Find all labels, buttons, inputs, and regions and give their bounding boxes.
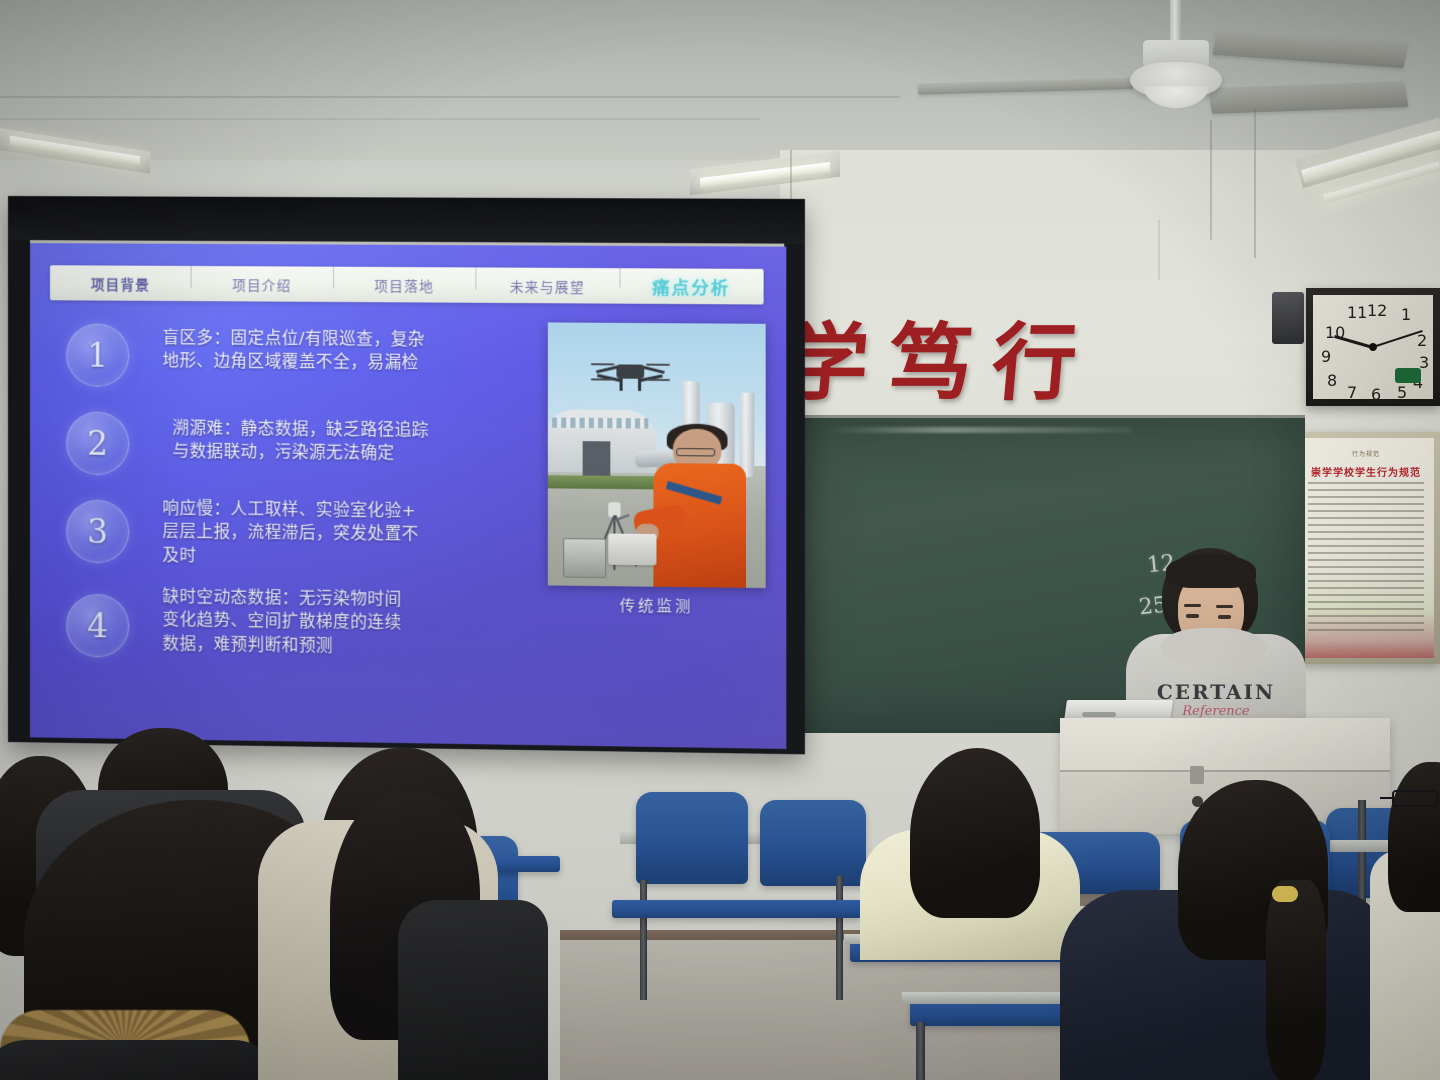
screen-top-bar	[8, 196, 805, 244]
desk-leg	[836, 876, 843, 1000]
photo-equipment-case	[563, 538, 606, 578]
slide-tab-project-implementation[interactable]: 项目落地	[333, 274, 476, 295]
classroom-scene: 学笃行 12 1 2 3 4 5 6 7 8 9 10 11 行为规范 崇学学校…	[0, 0, 1440, 1080]
bullet-item: 1 盲区多：固定点位/有限巡查，复杂 地形、边角区域覆盖不全，易漏检	[44, 321, 529, 403]
classroom-chair	[760, 800, 866, 886]
ceiling-seam	[0, 96, 900, 98]
student-coat	[398, 900, 548, 1080]
presenter-fringe	[1166, 554, 1256, 588]
presenter-brow	[1216, 605, 1233, 608]
photo-drone-monitoring	[548, 322, 766, 588]
wall-edge	[1210, 120, 1212, 240]
poster-heading: 崇学学校学生行为规范	[1298, 464, 1434, 479]
bullet-item: 4 缺时空动态数据：无污染物时间 变化趋势、空间扩散梯度的连续 数据，难预判断和…	[44, 579, 529, 664]
podium-seam	[1060, 770, 1390, 772]
presenter-brow	[1184, 604, 1201, 607]
presenter-eye	[1218, 615, 1231, 619]
slide-tab-project-background[interactable]: 项目背景	[50, 273, 191, 294]
bullet-number-3: 3	[66, 500, 129, 564]
projection-screen: 项目背景 项目介绍 项目落地 未来与展望 痛点分析 1 盲区多：固定点位/有限巡…	[8, 196, 805, 754]
desk-leg	[916, 1022, 925, 1080]
bullet-number-1: 1	[66, 323, 129, 387]
poster-subheading: 行为规范	[1298, 449, 1434, 458]
photo-remote-controller	[609, 534, 657, 566]
slide-photo-caption: 传统监测	[548, 594, 766, 618]
classroom-desk	[612, 900, 862, 918]
slide-tab-project-intro[interactable]: 项目介绍	[191, 273, 333, 294]
ceiling-seam	[0, 118, 760, 120]
bullet-text-2: 溯源难：静态数据，缺乏路径追踪 与数据联动，污染源无法确定	[162, 408, 529, 466]
slide-photo	[548, 322, 766, 588]
clock-face: 12 1 2 3 4 5 6 7 8 9 10 11	[1313, 295, 1433, 399]
student-coat	[0, 1040, 280, 1080]
wall-edge	[1158, 220, 1160, 280]
wall-calligraphy: 学笃行	[780, 296, 1103, 417]
classroom-chair	[636, 792, 748, 884]
bullet-number-4: 4	[66, 594, 129, 658]
fan-rod	[1170, 0, 1181, 44]
photo-building-door	[583, 441, 611, 478]
ceiling	[0, 0, 1440, 160]
wall-edge	[1254, 108, 1256, 258]
hair-tie	[1272, 886, 1298, 902]
slide-tab-pain-point-analysis[interactable]: 痛点分析	[619, 273, 763, 299]
bullet-text-3: 响应慢：人工取样、实验室化验+ 层层上报，流程滞后，突发处置不 及时	[162, 495, 529, 572]
photo-worker-glasses	[676, 448, 715, 456]
slide-nav-bar: 项目背景 项目介绍 项目落地 未来与展望 痛点分析	[50, 265, 764, 304]
slide-tab-future-outlook[interactable]: 未来与展望	[476, 275, 620, 296]
photo-drone	[591, 352, 669, 395]
bullet-item: 2 溯源难：静态数据，缺乏路径追踪 与数据联动，污染源无法确定	[44, 407, 529, 490]
poster-body-text	[1308, 482, 1425, 632]
clock-badge	[1395, 368, 1421, 383]
student-glasses	[1392, 790, 1438, 807]
wall-clock: 12 1 2 3 4 5 6 7 8 9 10 11	[1306, 288, 1440, 406]
desk-leg	[640, 880, 647, 1000]
wall-poster: 行为规范 崇学学校学生行为规范	[1292, 432, 1440, 664]
bullet-item: 3 响应慢：人工取样、实验室化验+ 层层上报，流程滞后，突发处置不 及时	[44, 493, 529, 577]
photo-building-windows	[552, 417, 648, 428]
photo-drone-body	[616, 364, 644, 379]
laptop-hinge	[1082, 712, 1116, 717]
podium-lock[interactable]	[1190, 766, 1204, 784]
clock-minute-hand	[1373, 330, 1423, 348]
bullet-text-4: 缺时空动态数据：无污染物时间 变化趋势、空间扩散梯度的连续 数据，难预判断和预测	[162, 581, 529, 660]
poster-content: 行为规范 崇学学校学生行为规范	[1298, 438, 1434, 658]
bullet-number-2: 2	[66, 411, 129, 475]
presenter-hood	[1160, 628, 1266, 668]
slide-bullet-list: 1 盲区多：固定点位/有限巡查，复杂 地形、边角区域覆盖不全，易漏检 2 溯源难…	[44, 321, 529, 672]
photo-worker	[643, 428, 765, 588]
student-hair	[910, 748, 1040, 918]
presentation-slide: 项目背景 项目介绍 项目落地 未来与展望 痛点分析 1 盲区多：固定点位/有限巡…	[30, 243, 786, 749]
bullet-text-1: 盲区多：固定点位/有限巡查，复杂 地形、边角区域覆盖不全，易漏检	[162, 322, 529, 376]
chalk-dust	[826, 427, 1132, 433]
student-ponytail	[1266, 880, 1326, 1080]
wall-speaker	[1272, 292, 1304, 344]
presenter-eye	[1186, 614, 1199, 618]
clock-center	[1369, 343, 1377, 351]
